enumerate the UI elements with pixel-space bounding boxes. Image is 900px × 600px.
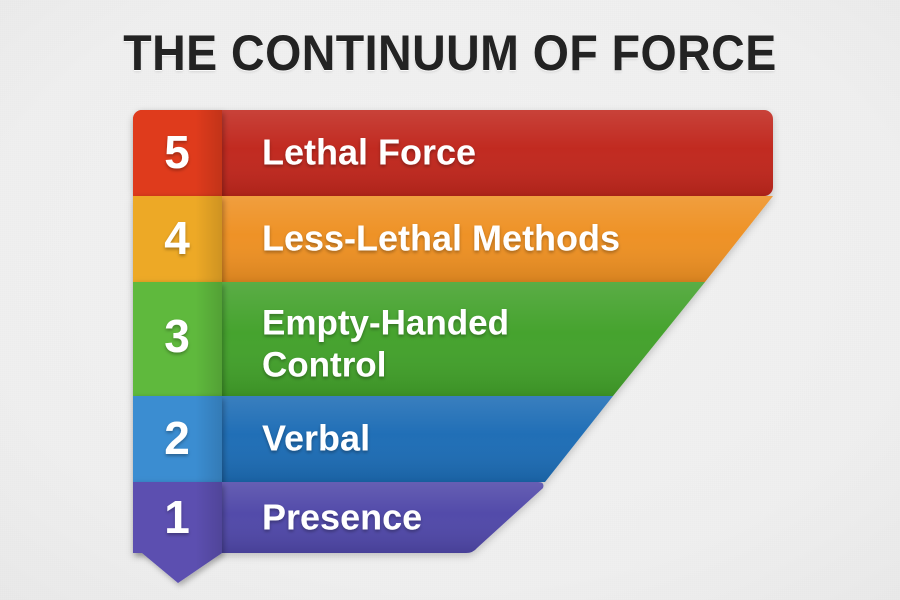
level-4-label: Less-Lethal Methods [262, 218, 620, 259]
level-3-label-line1: Empty-Handed [262, 303, 509, 342]
level-1-number: 1 [164, 491, 190, 543]
level-3-label-line2: Control [262, 345, 386, 384]
level-5-number: 5 [164, 126, 190, 178]
level-3-number: 3 [164, 310, 190, 362]
level-5-label: Lethal Force [262, 132, 476, 173]
infographic-poster: THE CONTINUUM OF FORCE [0, 0, 900, 600]
level-1-label: Presence [262, 497, 422, 538]
level-2-label: Verbal [262, 418, 370, 459]
continuum-of-force-funnel: 5 Lethal Force 4 Less-Lethal Methods 3 E… [0, 0, 900, 600]
level-2-number: 2 [164, 412, 190, 464]
level-4-number: 4 [164, 212, 190, 264]
funnel-level-1[interactable]: 1 Presence [133, 482, 543, 583]
